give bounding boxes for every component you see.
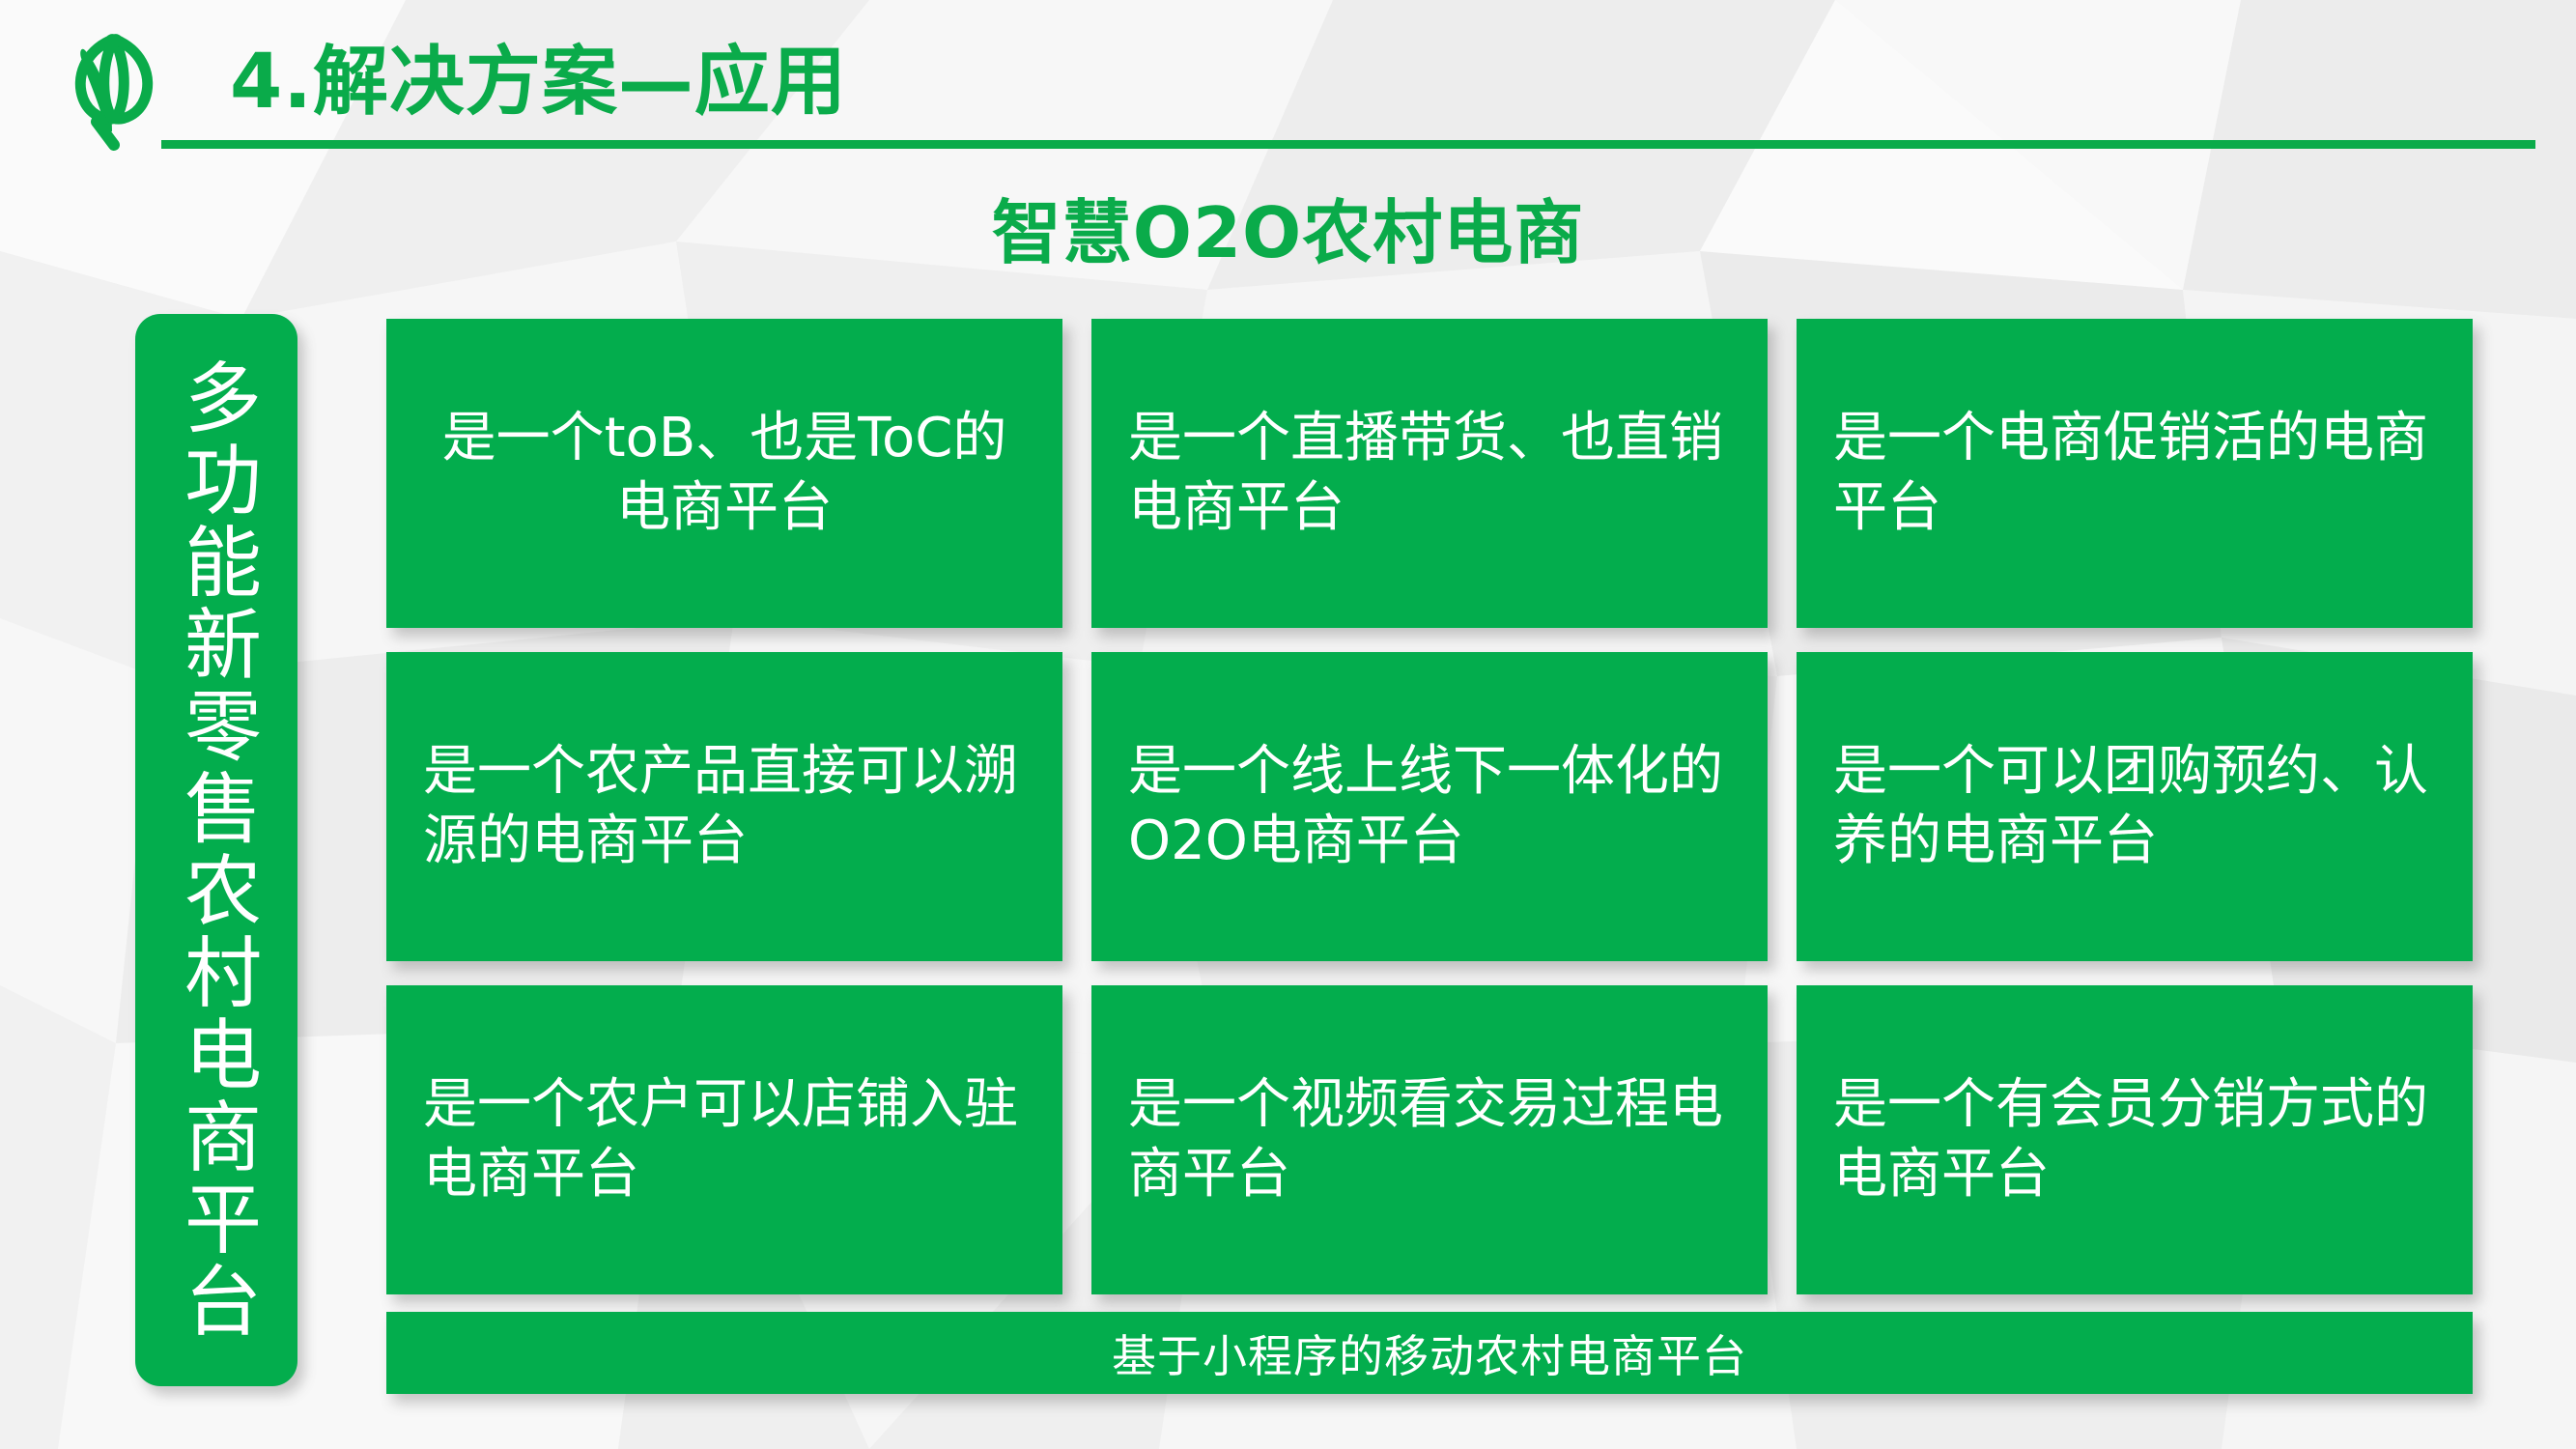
feature-cell[interactable]: 是一个直播带货、也直销电商平台 [1091,319,1768,628]
feature-cell-text: 是一个线上线下一体化的O2O电商平台 [1128,737,1731,875]
header-divider [161,140,2535,149]
page-title: 4.解决方案—应用 [230,21,847,129]
feature-cell-text: 是一个可以团购预约、认养的电商平台 [1833,737,2436,875]
footer-banner: 基于小程序的移动农村电商平台 [386,1312,2473,1394]
feature-cell[interactable]: 是一个线上线下一体化的O2O电商平台 [1091,652,1768,961]
feature-cell-text: 是一个农产品直接可以溯源的电商平台 [423,737,1026,875]
feature-cell[interactable]: 是一个toB、也是ToC的电商平台 [386,319,1062,628]
side-label-text: 多功能新零售农村电商平台 [178,357,255,1343]
feature-cell[interactable]: 是一个农产品直接可以溯源的电商平台 [386,652,1062,961]
feature-grid: 是一个toB、也是ToC的电商平台 是一个直播带货、也直销电商平台 是一个电商促… [386,319,2473,1294]
feature-cell-text: 是一个农户可以店铺入驻电商平台 [423,1070,1026,1208]
slide-header: 4.解决方案—应用 [0,0,2576,169]
feature-cell-text: 是一个toB、也是ToC的电商平台 [423,404,1026,542]
feature-cell[interactable]: 是一个有会员分销方式的电商平台 [1797,985,2473,1294]
feature-cell-text: 是一个视频看交易过程电商平台 [1128,1070,1731,1208]
feature-cell[interactable]: 是一个农户可以店铺入驻电商平台 [386,985,1062,1294]
section-title: 智慧O2O农村电商 [0,176,2576,277]
feature-cell-text: 是一个电商促销活的电商平台 [1833,404,2436,542]
feature-cell[interactable]: 是一个可以团购预约、认养的电商平台 [1797,652,2473,961]
feature-cell[interactable]: 是一个视频看交易过程电商平台 [1091,985,1768,1294]
leaf-icon [56,17,172,153]
feature-cell-text: 是一个有会员分销方式的电商平台 [1833,1070,2436,1208]
feature-cell-text: 是一个直播带货、也直销电商平台 [1128,404,1731,542]
footer-banner-text: 基于小程序的移动农村电商平台 [1112,1321,1747,1385]
feature-cell[interactable]: 是一个电商促销活的电商平台 [1797,319,2473,628]
side-label-bar: 多功能新零售农村电商平台 [135,314,297,1386]
